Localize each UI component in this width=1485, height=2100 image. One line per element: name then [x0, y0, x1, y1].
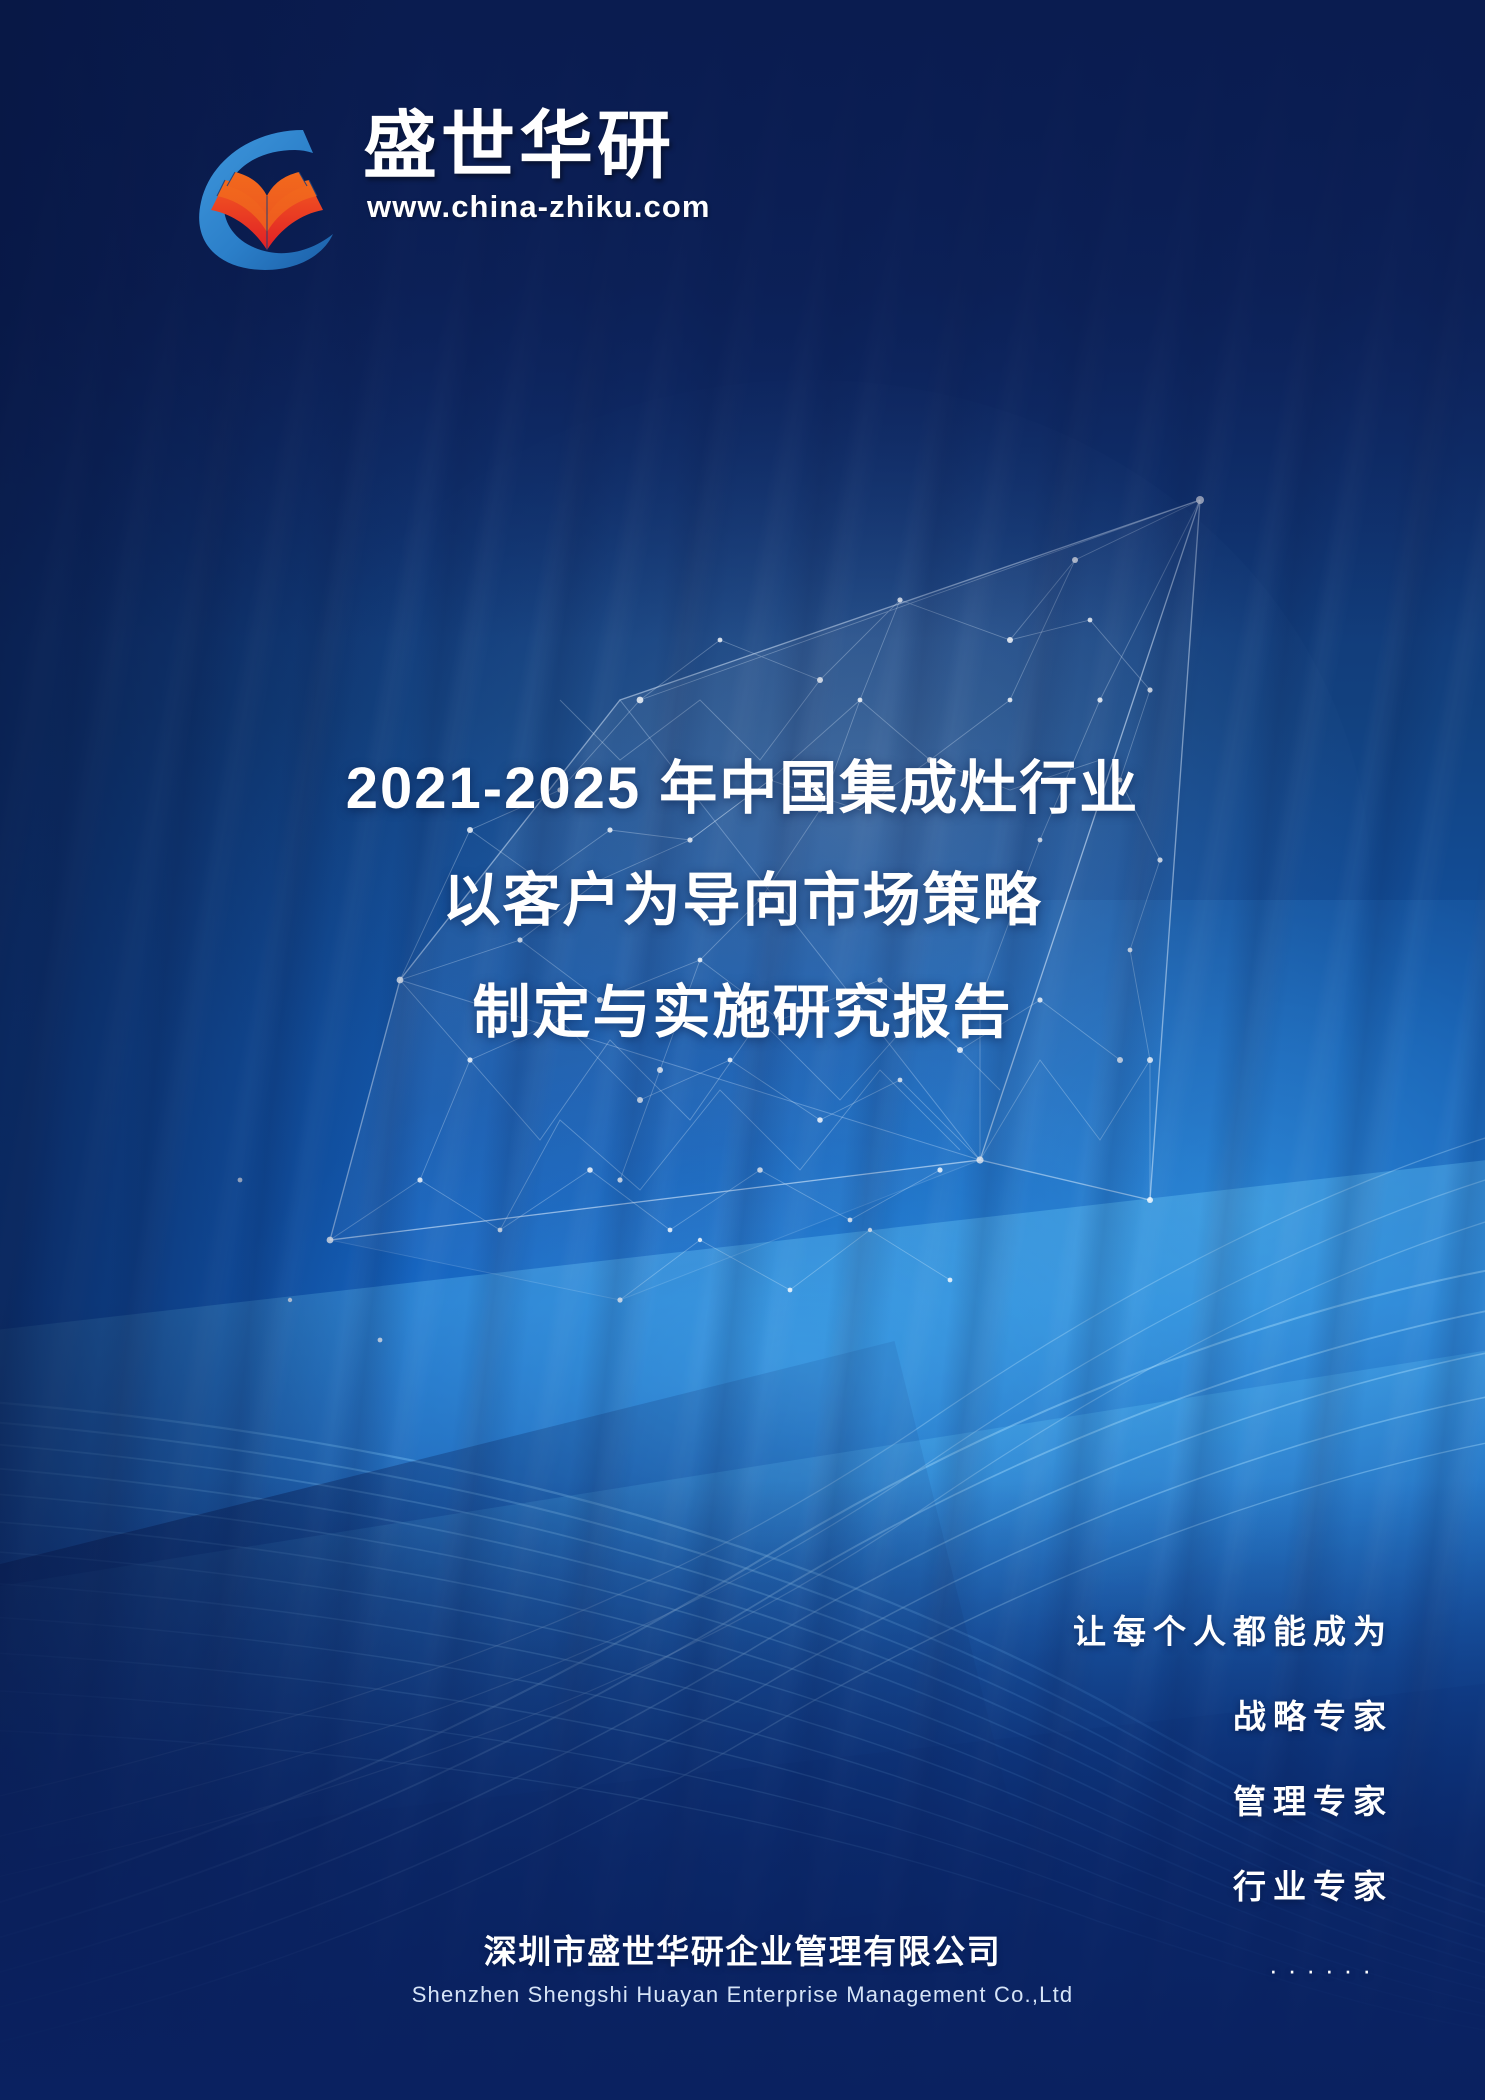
footer-company-block: 深圳市盛世华研企业管理有限公司 Shenzhen Shengshi Huayan…	[0, 1925, 1485, 2008]
footer-company-name-en: Shenzhen Shengshi Huayan Enterprise Mana…	[0, 1982, 1485, 2008]
top-vignette	[0, 0, 1485, 640]
report-cover-page: 盛世华研 www.china-zhiku.com 2021-2025 年中国集成…	[0, 0, 1485, 2100]
logo-company-name: 盛世华研	[363, 108, 711, 183]
logo-website-url[interactable]: www.china-zhiku.com	[367, 189, 711, 225]
slogan-line-2: 战略专家	[1073, 1700, 1393, 1733]
brand-logo[interactable]: 盛世华研 www.china-zhiku.com	[185, 108, 711, 272]
slogan-line-3: 管理专家	[1073, 1785, 1393, 1818]
left-vignette	[0, 0, 420, 2100]
title-line-2: 以客户为导向市场策略	[0, 872, 1485, 930]
slogan-line-1: 让每个人都能成为	[1073, 1615, 1393, 1648]
swoosh-open-book-logo-icon	[185, 122, 345, 272]
logo-text-group: 盛世华研 www.china-zhiku.com	[363, 108, 711, 225]
footer-company-name-cn: 深圳市盛世华研企业管理有限公司	[0, 1925, 1485, 1973]
report-title: 2021-2025 年中国集成灶行业 以客户为导向市场策略 制定与实施研究报告	[0, 760, 1485, 1042]
center-glow	[250, 1050, 1350, 1670]
title-line-3: 制定与实施研究报告	[0, 984, 1485, 1042]
title-line-1: 2021-2025 年中国集成灶行业	[0, 760, 1485, 818]
slogan-line-4: 行业专家	[1073, 1870, 1393, 1903]
